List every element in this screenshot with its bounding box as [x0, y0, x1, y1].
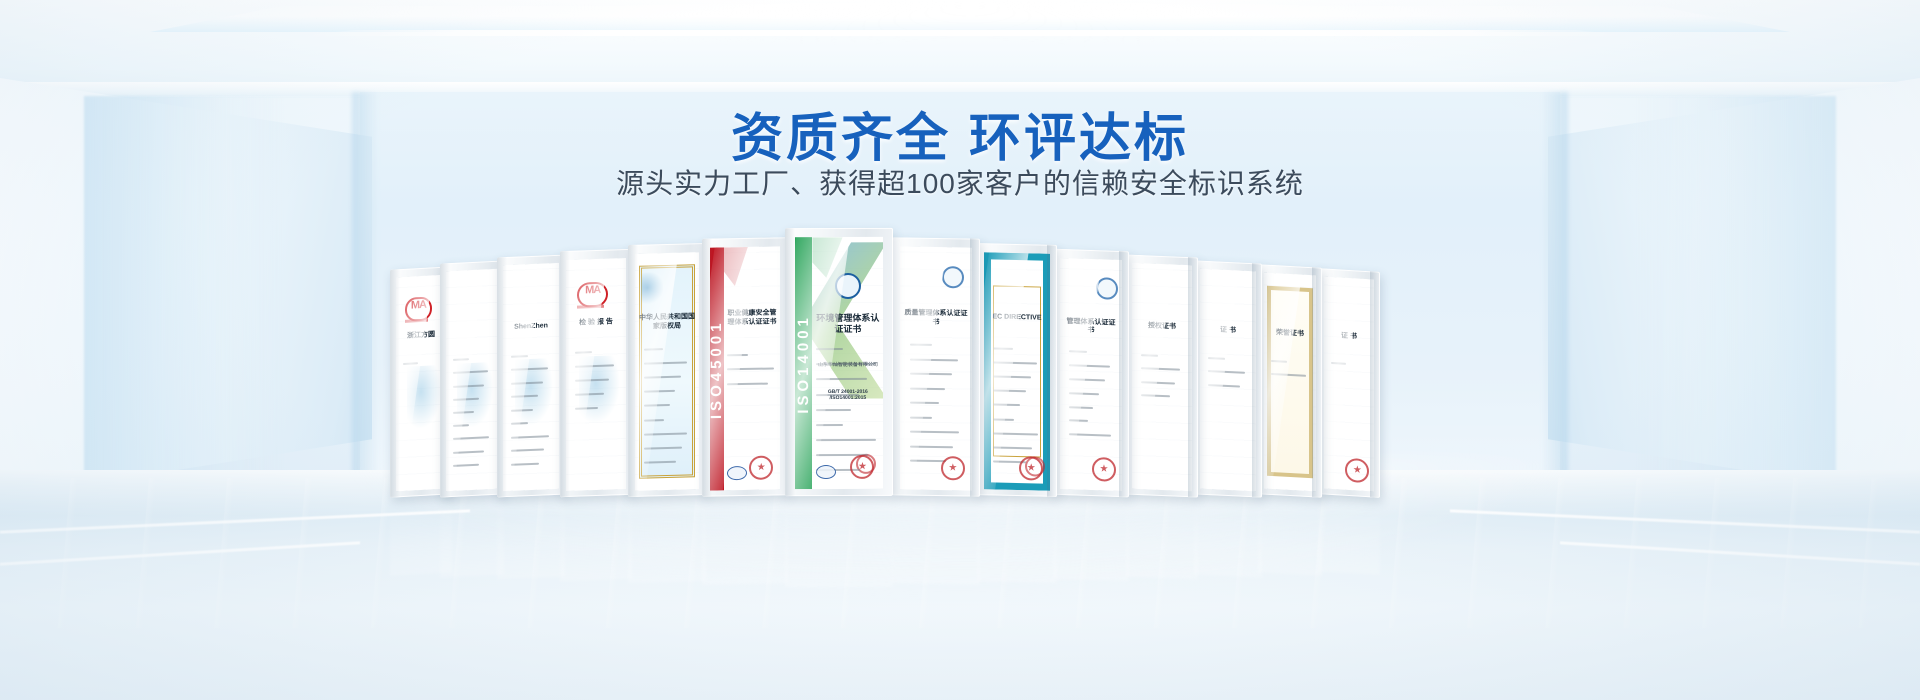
certificate-paper: MA检 验 报 告 [566, 258, 625, 491]
certification-seal-icon [942, 266, 964, 288]
certificate-title: 职业健康安全管理体系认证证书 [725, 309, 779, 327]
frame-edge-shadow [628, 245, 638, 497]
certificate-frame[interactable]: EC DIRECTIVE [977, 243, 1057, 497]
ce-inner-border [993, 285, 1040, 457]
certificate-text-line [910, 416, 932, 418]
certificate-frame[interactable]: 证 书 [1194, 260, 1262, 497]
certificate-reflection [1194, 494, 1262, 577]
frame-edge-shadow [1252, 263, 1262, 497]
iso-ribbon-label: ISO45001 [710, 319, 726, 419]
honor-border [1267, 286, 1313, 479]
frame-edge-shadow [1119, 251, 1129, 497]
certificate-reflection [1258, 494, 1322, 575]
certificate-row: MA浙江方圆ShenZhenMA检 验 报 告中华人民共和国国家版权局ISO45… [0, 226, 1920, 496]
certificate-title: 检 验 报 告 [570, 318, 622, 329]
certificate-text-line [816, 409, 851, 411]
iso-ribbon-label: ISO14001 [795, 314, 812, 414]
certificate-reflection [977, 495, 1057, 583]
certificate-title: 中华人民共和国国家版权局 [639, 314, 695, 333]
page-title: 资质齐全环评达标 [0, 96, 1920, 171]
frame-edge-shadow [560, 251, 570, 497]
frame-edge-shadow [440, 263, 450, 497]
iso-ribbon: ISO14001 [795, 237, 813, 489]
certificate-text-line [816, 439, 876, 441]
frame-edge-shadow [390, 269, 400, 498]
certificate-reflection [1318, 494, 1380, 575]
certificate-frame[interactable]: 质量管理体系认证证书 [892, 237, 980, 496]
certificate-frame[interactable]: MA检 验 报 告 [560, 249, 632, 498]
frame-edge-shadow [1370, 271, 1380, 498]
certificate-standard: GB/T 24001-2016 /ISO14001:2015 [814, 388, 881, 400]
headline-part-1: 资质齐全 [731, 110, 951, 168]
ceiling-light-glow [170, 2, 1770, 42]
certificate-text-line [816, 424, 843, 426]
certificate-paper: 证 书 [1200, 269, 1256, 492]
frame-edge-shadow [1188, 257, 1198, 497]
certificate-frame[interactable] [440, 260, 504, 497]
certificate-reflection [497, 495, 565, 580]
certificate-company: 山东华灿智能装备有限公司 [814, 361, 881, 368]
certification-seal-icon [835, 273, 861, 299]
certificate-frame[interactable]: 中华人民共和国国家版权局 [628, 243, 706, 497]
certificate-title: 质量管理体系认证证书 [904, 310, 968, 328]
certificate-reflection [785, 496, 893, 587]
certificate-reflection [628, 495, 706, 583]
certificate-frame[interactable]: 荣誉证书 [1258, 264, 1322, 497]
certification-seal-icon [1096, 277, 1118, 300]
certificate-paper: 管理体系认证证书 [1060, 258, 1122, 491]
certificate-frame[interactable]: 证 书 [1318, 268, 1380, 498]
certificate-paper: ISO14001环境管理体系认证证书GB/T 24001-2016 /ISO14… [795, 237, 884, 489]
certificate-reflection [702, 495, 788, 585]
certificate-reflection [1126, 495, 1198, 580]
page-subtitle: 源头实力工厂、获得超100家客户的信赖安全标识系统 [0, 162, 1920, 202]
certificate-paper: EC DIRECTIVE [984, 252, 1050, 490]
certificate-paper: 证 书 [1324, 276, 1375, 491]
decorative-globe-icon [407, 365, 443, 431]
certificate-reflection [560, 495, 632, 582]
headline-part-2: 环评达标 [969, 110, 1189, 168]
certificate-reflection [440, 494, 504, 577]
certificate-frame[interactable]: ShenZhen [497, 255, 565, 498]
frame-edge-shadow [1047, 245, 1057, 497]
certificate-paper: 中华人民共和国国家版权局 [635, 252, 699, 491]
certificate-paper: ShenZhen [503, 263, 559, 491]
ma-certification-badge: MA [577, 281, 608, 307]
certificate-reflection [892, 495, 980, 584]
frame-edge-shadow [970, 239, 980, 497]
ornament-icon [641, 272, 663, 310]
paper-watermark [1200, 269, 1256, 492]
frame-edge-shadow [1312, 267, 1322, 498]
banner-stage: 资质齐全环评达标 源头实力工厂、获得超100家客户的信赖安全标识系统 MA浙江方… [0, 0, 1920, 700]
certificate-paper: 质量管理体系认证证书 [900, 246, 972, 490]
official-seal-icon [1092, 457, 1116, 482]
certificate-frame[interactable]: 授权证书 [1126, 255, 1198, 498]
certificate-frame[interactable]: 管理体系认证证书 [1053, 249, 1129, 498]
certificate-frame[interactable]: ISO14001环境管理体系认证证书GB/T 24001-2016 /ISO14… [785, 228, 893, 496]
certificate-text-line [727, 354, 748, 356]
certificate-title: EC DIRECTIVE [988, 314, 1046, 324]
certificate-text-line [910, 344, 932, 346]
certificate-reflection [1053, 495, 1129, 582]
paper-watermark [1132, 263, 1191, 491]
frame-edge-shadow [497, 257, 507, 497]
certificate-paper: 授权证书 [1132, 263, 1191, 491]
official-seal-icon [941, 456, 965, 480]
certificate-paper: MA浙江方圆 [396, 275, 447, 492]
certificate-paper [446, 269, 499, 492]
certificate-title: 管理体系认证证书 [1064, 318, 1119, 337]
ceiling-light-line [300, 30, 1630, 36]
frame-edge-shadow [785, 228, 795, 496]
certificate-paper: ISO45001职业健康安全管理体系认证证书 [710, 246, 781, 490]
certificate-paper: 荣誉证书 [1264, 273, 1317, 492]
certificate-title: 环境管理体系认证证书 [814, 313, 881, 336]
certificate-text-line [816, 348, 843, 350]
accreditation-logo-icon [727, 466, 747, 480]
certificate-frame[interactable]: ISO45001职业健康安全管理体系认证证书 [702, 237, 788, 497]
frame-edge-shadow [702, 239, 712, 497]
